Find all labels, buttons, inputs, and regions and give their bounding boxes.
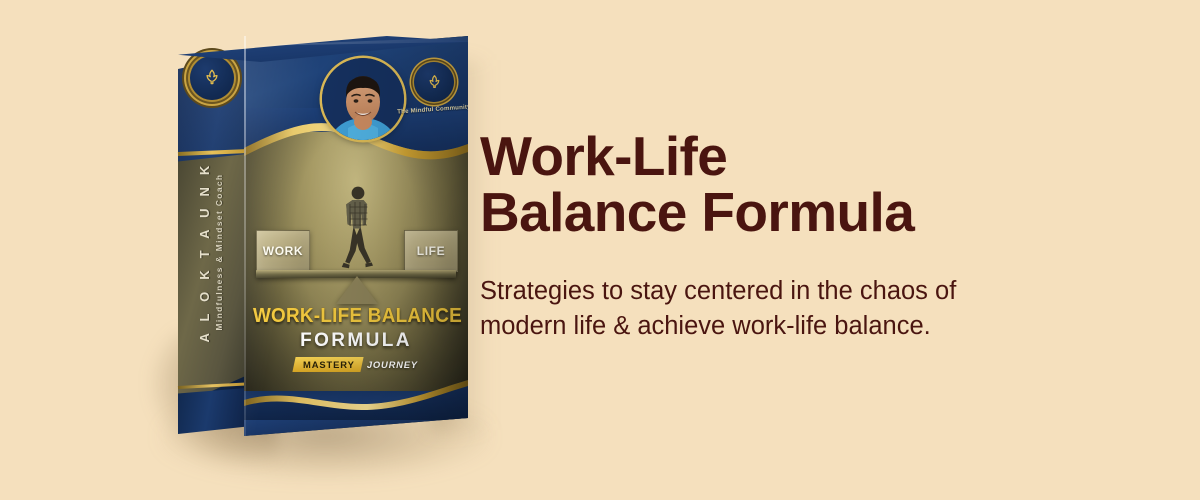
author-portrait-icon xyxy=(322,58,404,140)
mindful-community-emblem-icon xyxy=(414,62,454,102)
base-gold-wave xyxy=(244,374,468,420)
life-block-label: LIFE xyxy=(417,244,445,258)
box-front-edge-highlight xyxy=(244,36,246,436)
page-title: Work-Life Balance Formula xyxy=(480,128,1100,240)
banner-stage: A L O K T A U N K Mindfulness & Mindset … xyxy=(0,0,1200,500)
fulcrum-triangle xyxy=(336,276,378,304)
mastery-badge: MASTERY xyxy=(293,357,364,372)
lotus-emblem-icon xyxy=(190,56,234,100)
work-block-label: WORK xyxy=(263,244,303,258)
box-front-face: WORK LIFE xyxy=(244,36,468,436)
work-block: WORK xyxy=(256,230,310,272)
cover-title-main: WORK-LIFE BALANCE xyxy=(253,304,459,328)
walking-person-silhouette xyxy=(336,184,380,276)
author-avatar xyxy=(322,58,404,140)
box-side-panel-olive xyxy=(178,154,246,406)
copy-block: Work-Life Balance Formula Strategies to … xyxy=(480,128,1100,344)
box-side-base xyxy=(178,388,246,434)
cover-title-block: WORK-LIFE BALANCE FORMULA MASTERY JOURNE… xyxy=(244,304,468,372)
mastery-badge-label: MASTERY xyxy=(303,359,355,370)
cover-title-sub: FORMULA xyxy=(244,330,468,352)
journey-label: JOURNEY xyxy=(367,359,418,370)
balance-scene: WORK LIFE xyxy=(244,166,468,296)
subcopy-line-2: modern life & achieve work-life balance. xyxy=(480,309,1025,344)
cover-title-badges: MASTERY JOURNEY xyxy=(244,357,468,372)
headline-line-1: Work-Life xyxy=(480,125,727,187)
subtitle: Strategies to stay centered in the chaos… xyxy=(480,274,1025,343)
product-box-mockup: A L O K T A U N K Mindfulness & Mindset … xyxy=(178,36,468,436)
subcopy-line-1: Strategies to stay centered in the chaos… xyxy=(480,277,956,305)
headline-line-2: Balance Formula xyxy=(480,184,1100,240)
life-block: LIFE xyxy=(404,230,458,272)
